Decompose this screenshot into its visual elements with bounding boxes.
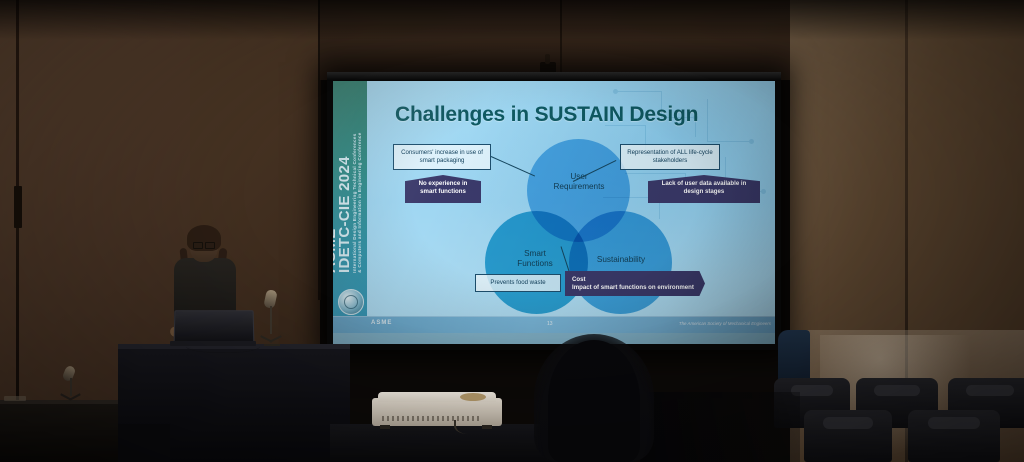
chair — [908, 410, 1000, 462]
projector-foot — [482, 425, 492, 429]
callout-cost-text: Impact of smart functions on environment — [572, 284, 694, 291]
microphone-cable — [186, 336, 260, 353]
sidebar-subtitle: International Design Engineering Technic… — [352, 133, 363, 273]
screen-surface: ASME IDETC-CIE 2024 International Design… — [333, 81, 775, 344]
microphone-stem — [270, 306, 272, 334]
venn-label-user-requirements: User Requirements — [537, 172, 621, 192]
slide-footer: ASME 13 The American Society of Mechanic… — [333, 316, 775, 333]
slide-page-number: 13 — [547, 321, 553, 327]
slide-sidebar-text-stack: ASME IDETC-CIE 2024 International Design… — [333, 87, 367, 273]
left-microphone-tripod-legs — [60, 392, 82, 404]
left-table — [0, 400, 118, 462]
microphone-tripod-legs — [260, 332, 282, 346]
foreground-dark-mass — [640, 392, 800, 462]
callout-cost-impact: Cost Impact of smart functions on enviro… — [565, 271, 705, 296]
callout-representation-lifecycle-stakeholders: Representation of ALL life-cycle stakeho… — [620, 144, 720, 170]
sidebar-subtitle-line-2: & Computers and Information in Engineeri… — [358, 133, 363, 273]
callout-consumers-smart-packaging: Consumers' increase in use of smart pack… — [393, 144, 491, 170]
ceiling-shadow — [0, 0, 1024, 40]
wall-seam-left — [16, 0, 19, 462]
projector-body — [372, 398, 502, 426]
projector-top-panel — [378, 392, 496, 402]
slide-sidebar: ASME IDETC-CIE 2024 International Design… — [333, 81, 367, 333]
audience-silhouette — [548, 340, 640, 462]
left-microphone — [58, 366, 88, 404]
projector-lens-icon — [460, 393, 486, 401]
venn-label-user-line2: Requirements — [537, 182, 621, 192]
slide-footer-society: The American Society of Mechanical Engin… — [679, 321, 771, 326]
callout-no-experience-smart-functions: No experience in smart functions — [405, 175, 481, 203]
venn-label-sustainability: Sustainability — [575, 255, 667, 265]
callout-prevents-food-waste: Prevents food waste — [475, 274, 561, 292]
projector — [372, 392, 502, 428]
presentation-slide: ASME IDETC-CIE 2024 International Design… — [333, 81, 775, 333]
projector-foot — [380, 425, 390, 429]
projection-screen: ASME IDETC-CIE 2024 International Design… — [327, 72, 781, 350]
slide-title: Challenges in SUSTAIN Design — [395, 103, 698, 127]
chair — [804, 410, 892, 462]
venn-label-sust-line1: Sustainability — [575, 255, 667, 265]
slide-footer-org: ASME — [371, 320, 392, 326]
audience-chairs — [780, 352, 1024, 462]
screenshot-root: ASME IDETC-CIE 2024 International Design… — [0, 0, 1024, 462]
sidebar-event-label: IDETC-CIE 2024 — [337, 156, 352, 273]
presenter-glasses — [193, 242, 215, 247]
paper-on-table — [4, 396, 26, 401]
left-microphone-capsule-icon — [62, 365, 77, 383]
podium-microphone — [258, 290, 284, 348]
callout-cost-heading: Cost — [572, 276, 700, 284]
screen-frame-top-bar — [327, 72, 781, 81]
asme-seal-logo-icon — [338, 289, 364, 315]
wall-latch — [14, 186, 22, 228]
